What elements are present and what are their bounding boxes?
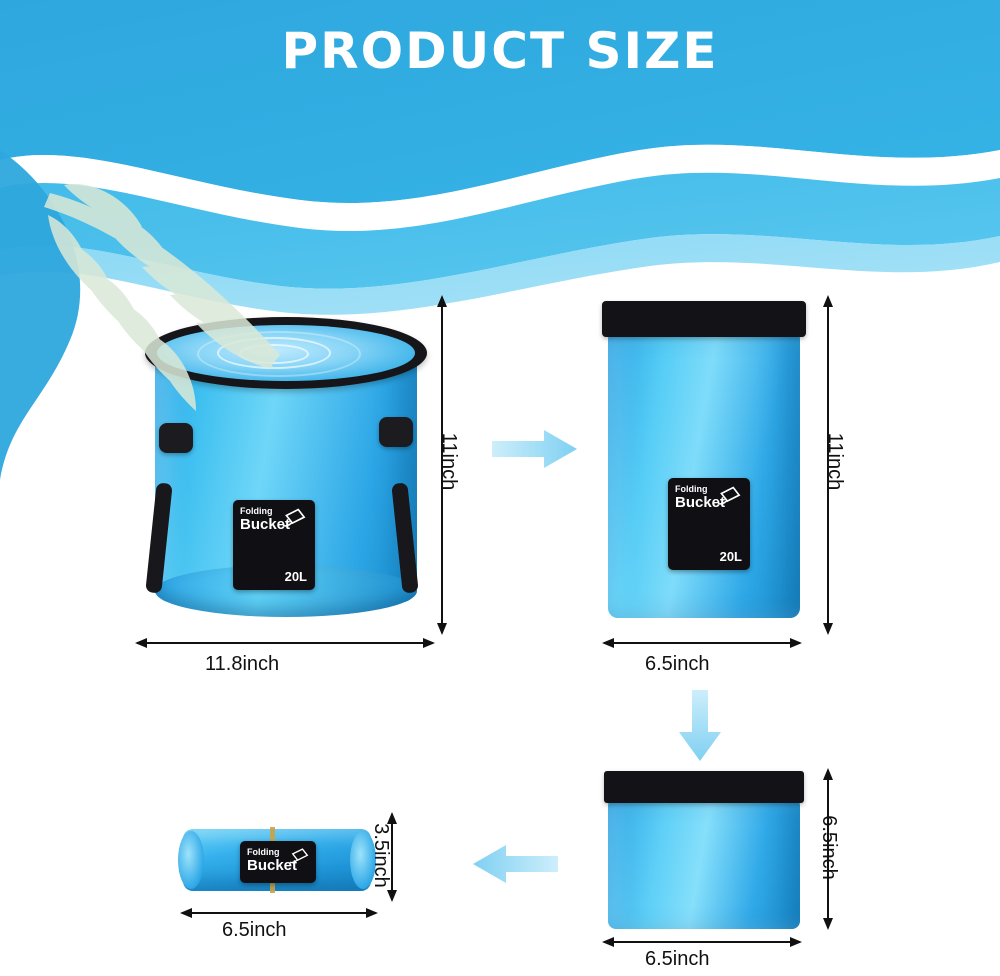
palm-leaf-icon xyxy=(30,175,360,435)
dimension-line xyxy=(135,633,435,653)
bag-top-band xyxy=(604,771,804,803)
dimension-square-bag-height: 6.5inch xyxy=(818,768,858,930)
dimension-label-roll-height: 3.5inch xyxy=(369,823,392,888)
product-size-infographic: PRODUCT SIZE xyxy=(0,0,1000,976)
arrow-bucket-to-bag xyxy=(492,428,578,470)
product-tag-bucket: Folding Bucket 20L xyxy=(233,500,315,590)
dimension-label-square-bag-height: 6.5inch xyxy=(817,815,840,880)
bucket-pour-icon xyxy=(716,485,742,507)
dimension-line xyxy=(602,633,802,653)
dimension-roll-width: 6.5inch xyxy=(180,903,378,943)
dimension-label-tall-bag-width: 6.5inch xyxy=(645,653,710,676)
roll-cap-left xyxy=(178,831,204,889)
rolled-bundle: Folding Bucket xyxy=(178,815,378,900)
arrow-bag-to-square xyxy=(678,690,722,762)
folded-square-bag xyxy=(600,765,815,930)
bag-top-band xyxy=(602,301,806,337)
dimension-square-bag-width: 6.5inch xyxy=(602,932,802,972)
dimension-tall-bag-width: 6.5inch xyxy=(602,633,802,673)
page-title: PRODUCT SIZE xyxy=(0,22,1000,80)
dimension-label-roll-width: 6.5inch xyxy=(222,919,287,942)
product-tag-roll: Folding Bucket xyxy=(240,841,316,883)
dimension-label-tall-bag-height: 11inch xyxy=(823,433,846,490)
dimension-label-square-bag-width: 6.5inch xyxy=(645,948,710,971)
folded-tall-bag: Folding Bucket 20L xyxy=(600,293,815,628)
dimension-label-bucket-width: 11.8inch xyxy=(205,653,279,676)
dimension-roll-height: 3.5inch xyxy=(382,812,422,902)
bucket-pour-icon xyxy=(288,847,310,865)
dimension-label-bucket-height: 11inch xyxy=(437,433,460,490)
bucket-handle-right xyxy=(379,417,413,447)
tag-capacity: 20L xyxy=(720,549,742,564)
bag-body xyxy=(608,333,800,618)
bucket-pour-icon xyxy=(281,507,307,529)
arrow-square-to-roll xyxy=(470,843,558,885)
dimension-tall-bag-height: 11inch xyxy=(818,295,858,635)
bag-body xyxy=(608,801,800,929)
dimension-bucket-width: 11.8inch xyxy=(135,633,435,673)
tag-capacity: 20L xyxy=(285,569,307,584)
product-tag-tall-bag: Folding Bucket 20L xyxy=(668,478,750,570)
dimension-bucket-height: 11inch xyxy=(432,295,472,635)
